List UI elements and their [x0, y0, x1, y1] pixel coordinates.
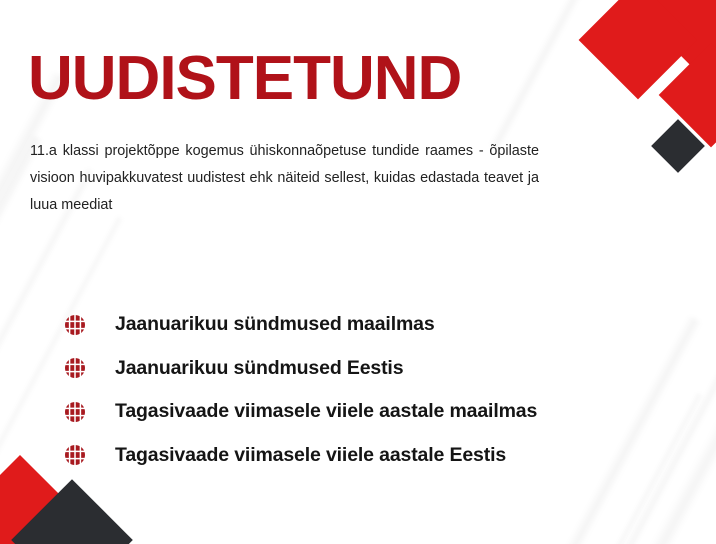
- globe-icon: [60, 357, 90, 379]
- streak: [489, 0, 603, 150]
- globe-icon: [60, 401, 90, 423]
- list-item-label: Jaanuarikuu sündmused Eestis: [115, 357, 403, 380]
- list-item[interactable]: Jaanuarikuu sündmused Eestis: [60, 347, 680, 391]
- slide-canvas: UUDISTETUND 11.a klassi projektõppe koge…: [0, 0, 716, 544]
- list-item[interactable]: Tagasivaade viimasele viiele aastale Ees…: [60, 434, 680, 478]
- list-item-label: Tagasivaade viimasele viiele aastale maa…: [115, 400, 537, 423]
- slide-title: UUDISTETUND: [28, 46, 461, 111]
- list-item[interactable]: Tagasivaade viimasele viiele aastale maa…: [60, 390, 680, 434]
- slide-intro-paragraph: 11.a klassi projektõppe kogemus ühiskonn…: [30, 138, 539, 219]
- list-item[interactable]: Jaanuarikuu sündmused maailmas: [60, 303, 680, 347]
- globe-icon: [60, 444, 90, 466]
- topic-list: Jaanuarikuu sündmused maailmas Jaanuarik…: [60, 303, 680, 477]
- globe-icon: [60, 314, 90, 336]
- list-item-label: Jaanuarikuu sündmused maailmas: [115, 313, 435, 336]
- list-item-label: Tagasivaade viimasele viiele aastale Ees…: [115, 444, 506, 467]
